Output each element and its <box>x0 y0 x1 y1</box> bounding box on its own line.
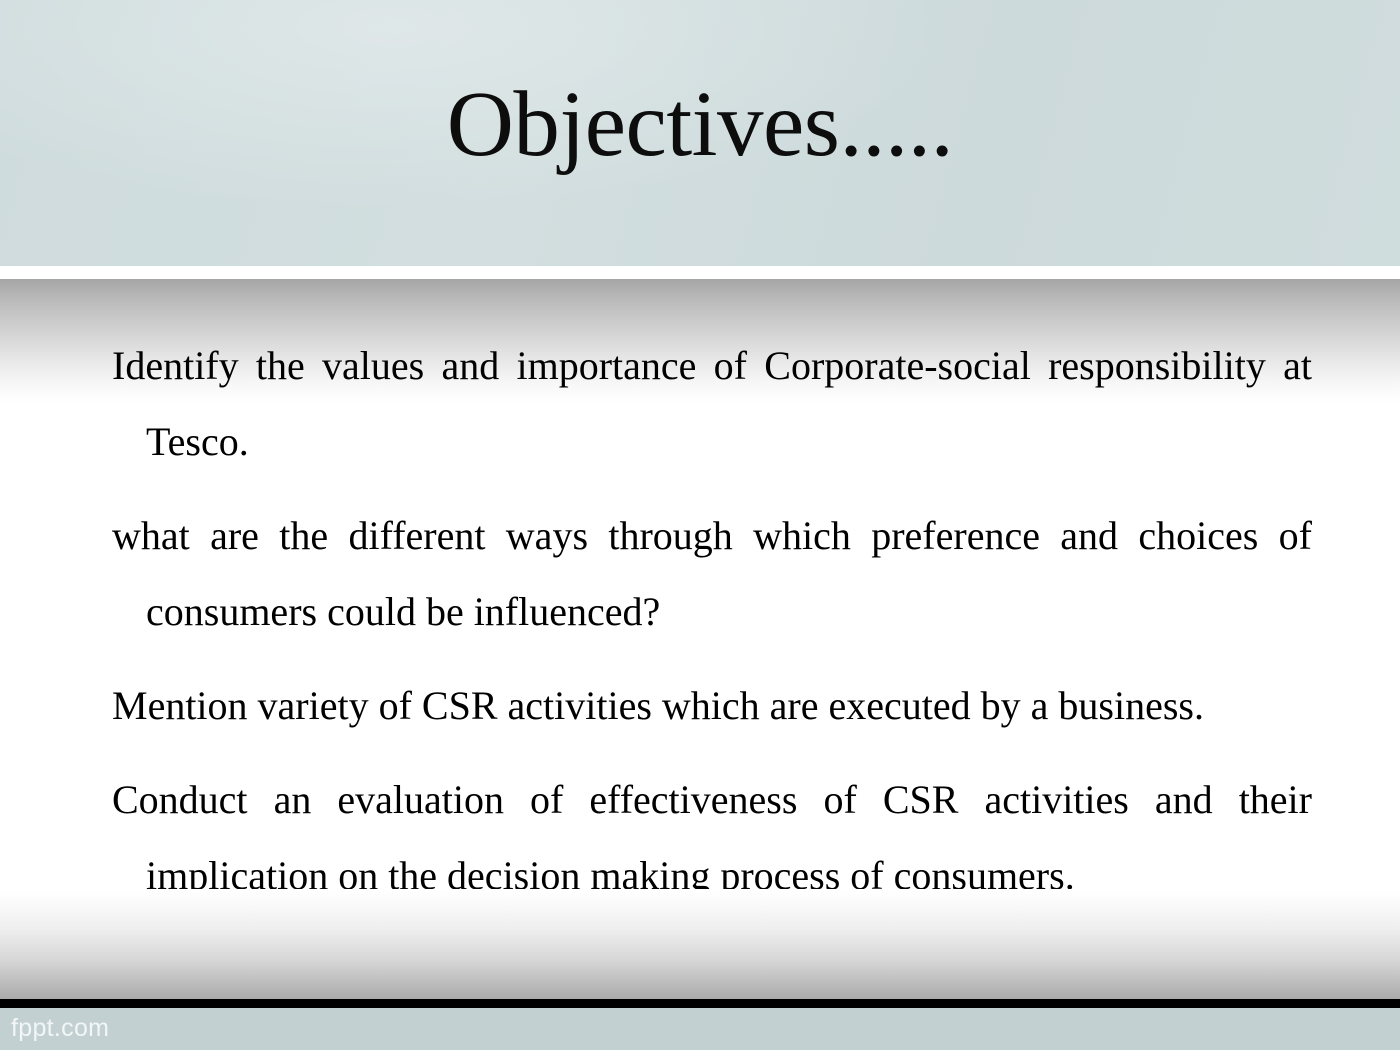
presentation-slide: Objectives..... Identify the values and … <box>0 0 1400 1050</box>
body-paragraph-3: Mention variety of CSR activities which … <box>112 668 1312 744</box>
body-paragraph-2: what are the different ways through whic… <box>112 498 1312 650</box>
header-separator-white <box>0 266 1400 279</box>
slide-footer-band <box>0 1008 1400 1050</box>
page-title: Objectives..... <box>0 78 1400 171</box>
footer-shadow-gradient <box>0 889 1400 999</box>
slide-body-content: Identify the values and importance of Co… <box>112 328 1312 914</box>
body-paragraph-1: Identify the values and importance of Co… <box>112 328 1312 480</box>
footer-watermark-label: fppt.com <box>11 1012 109 1044</box>
footer-divider-bar <box>0 999 1400 1008</box>
